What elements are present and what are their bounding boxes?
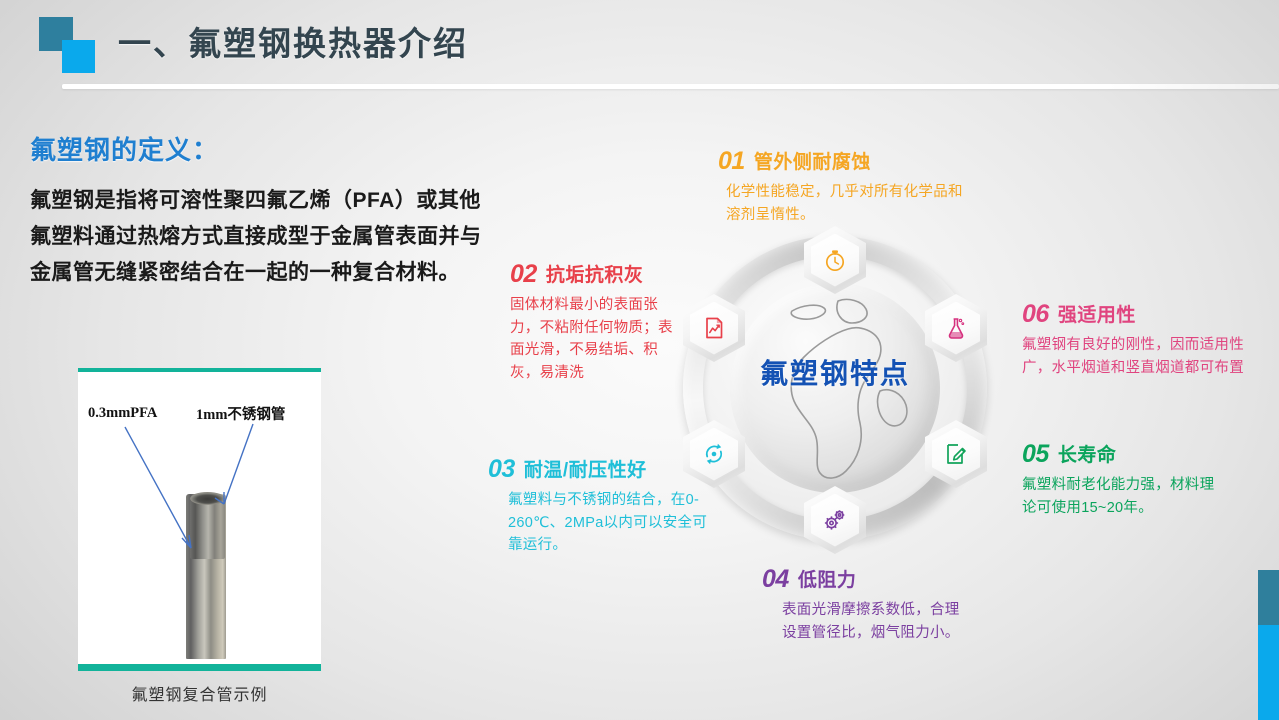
- feature-item-06: 06强适用性 氟塑钢有良好的刚性，因而适用性广，水平烟道和竖直烟道都可布置: [1022, 300, 1252, 379]
- photo-label-pfa: 0.3mmPFA: [88, 405, 157, 422]
- photo-caption: 氟塑钢复合管示例: [78, 681, 321, 705]
- feature-item-04: 04低阻力 表面光滑摩擦系数低，合理设置管径比，烟气阻力小。: [762, 565, 972, 644]
- chart-doc-icon: [701, 315, 727, 341]
- feature-title-01: 管外侧耐腐蚀: [754, 152, 871, 173]
- feature-body-04: 表面光滑摩擦系数低，合理设置管径比，烟气阻力小。: [762, 599, 972, 644]
- header-square-light-icon: [62, 40, 95, 73]
- feature-title-03: 耐温/耐压性好: [524, 460, 647, 481]
- feature-body-06: 氟塑钢有良好的刚性，因而适用性广，水平烟道和竖直烟道都可布置: [1022, 334, 1252, 379]
- feature-body-02: 固体材料最小的表面张力，不粘附任何物质；表面光滑，不易结垢、积灰，易清洗: [510, 294, 685, 384]
- header-divider: [62, 84, 1279, 89]
- feature-head-01: 01管外侧耐腐蚀: [718, 147, 968, 176]
- definition-body: 氟塑钢是指将可溶性聚四氟乙烯（PFA）或其他氟塑料通过热熔方式直接成型于金属管表…: [30, 183, 490, 291]
- gears-icon: [822, 507, 848, 533]
- slide-header: 一、氟塑钢换热器介绍: [0, 0, 1279, 100]
- feature-head-04: 04低阻力: [762, 565, 972, 594]
- composite-pipe-photo: 0.3mmPFA 1mm不锈钢管: [78, 368, 321, 671]
- feature-body-05: 氟塑料耐老化能力强，材料理论可使用15~20年。: [1022, 474, 1222, 519]
- feature-number-01: 01: [718, 147, 745, 175]
- feature-head-06: 06强适用性: [1022, 300, 1252, 329]
- feature-title-05: 长寿命: [1058, 445, 1117, 466]
- definition-heading: 氟塑钢的定义：: [30, 130, 490, 167]
- feature-number-05: 05: [1022, 440, 1049, 468]
- stopwatch-icon: [822, 247, 848, 273]
- composite-pipe-figure: 0.3mmPFA 1mm不锈钢管 氟塑钢复合管示例: [78, 368, 321, 705]
- feature-ring: 氟塑钢特点: [675, 228, 995, 548]
- flask-icon: [943, 315, 969, 341]
- definition-block: 氟塑钢的定义： 氟塑钢是指将可溶性聚四氟乙烯（PFA）或其他氟塑料通过热熔方式直…: [30, 130, 490, 291]
- feature-title-02: 抗垢抗积灰: [546, 265, 644, 286]
- ring-center-label: 氟塑钢特点: [675, 352, 995, 392]
- feature-number-06: 06: [1022, 300, 1049, 328]
- feature-title-06: 强适用性: [1058, 305, 1136, 326]
- features-infographic: 01管外侧耐腐蚀 化学性能稳定，几乎对所有化学品和溶剂呈惰性。 02抗垢抗积灰 …: [470, 120, 1279, 720]
- feature-number-02: 02: [510, 260, 537, 288]
- feature-head-05: 05长寿命: [1022, 440, 1222, 469]
- feature-number-04: 04: [762, 565, 789, 593]
- feature-item-02: 02抗垢抗积灰 固体材料最小的表面张力，不粘附任何物质；表面光滑，不易结垢、积灰…: [510, 260, 685, 384]
- feature-number-03: 03: [488, 455, 515, 483]
- feature-title-04: 低阻力: [798, 570, 857, 591]
- page-title: 一、氟塑钢换热器介绍: [118, 17, 468, 65]
- feature-body-01: 化学性能稳定，几乎对所有化学品和溶剂呈惰性。: [718, 181, 968, 226]
- feature-item-05: 05长寿命 氟塑料耐老化能力强，材料理论可使用15~20年。: [1022, 440, 1222, 519]
- recycle-icon: [701, 441, 727, 467]
- edit-note-icon: [943, 441, 969, 467]
- feature-head-02: 02抗垢抗积灰: [510, 260, 685, 289]
- photo-label-steel: 1mm不锈钢管: [196, 403, 285, 424]
- feature-item-01: 01管外侧耐腐蚀 化学性能稳定，几乎对所有化学品和溶剂呈惰性。: [718, 147, 968, 226]
